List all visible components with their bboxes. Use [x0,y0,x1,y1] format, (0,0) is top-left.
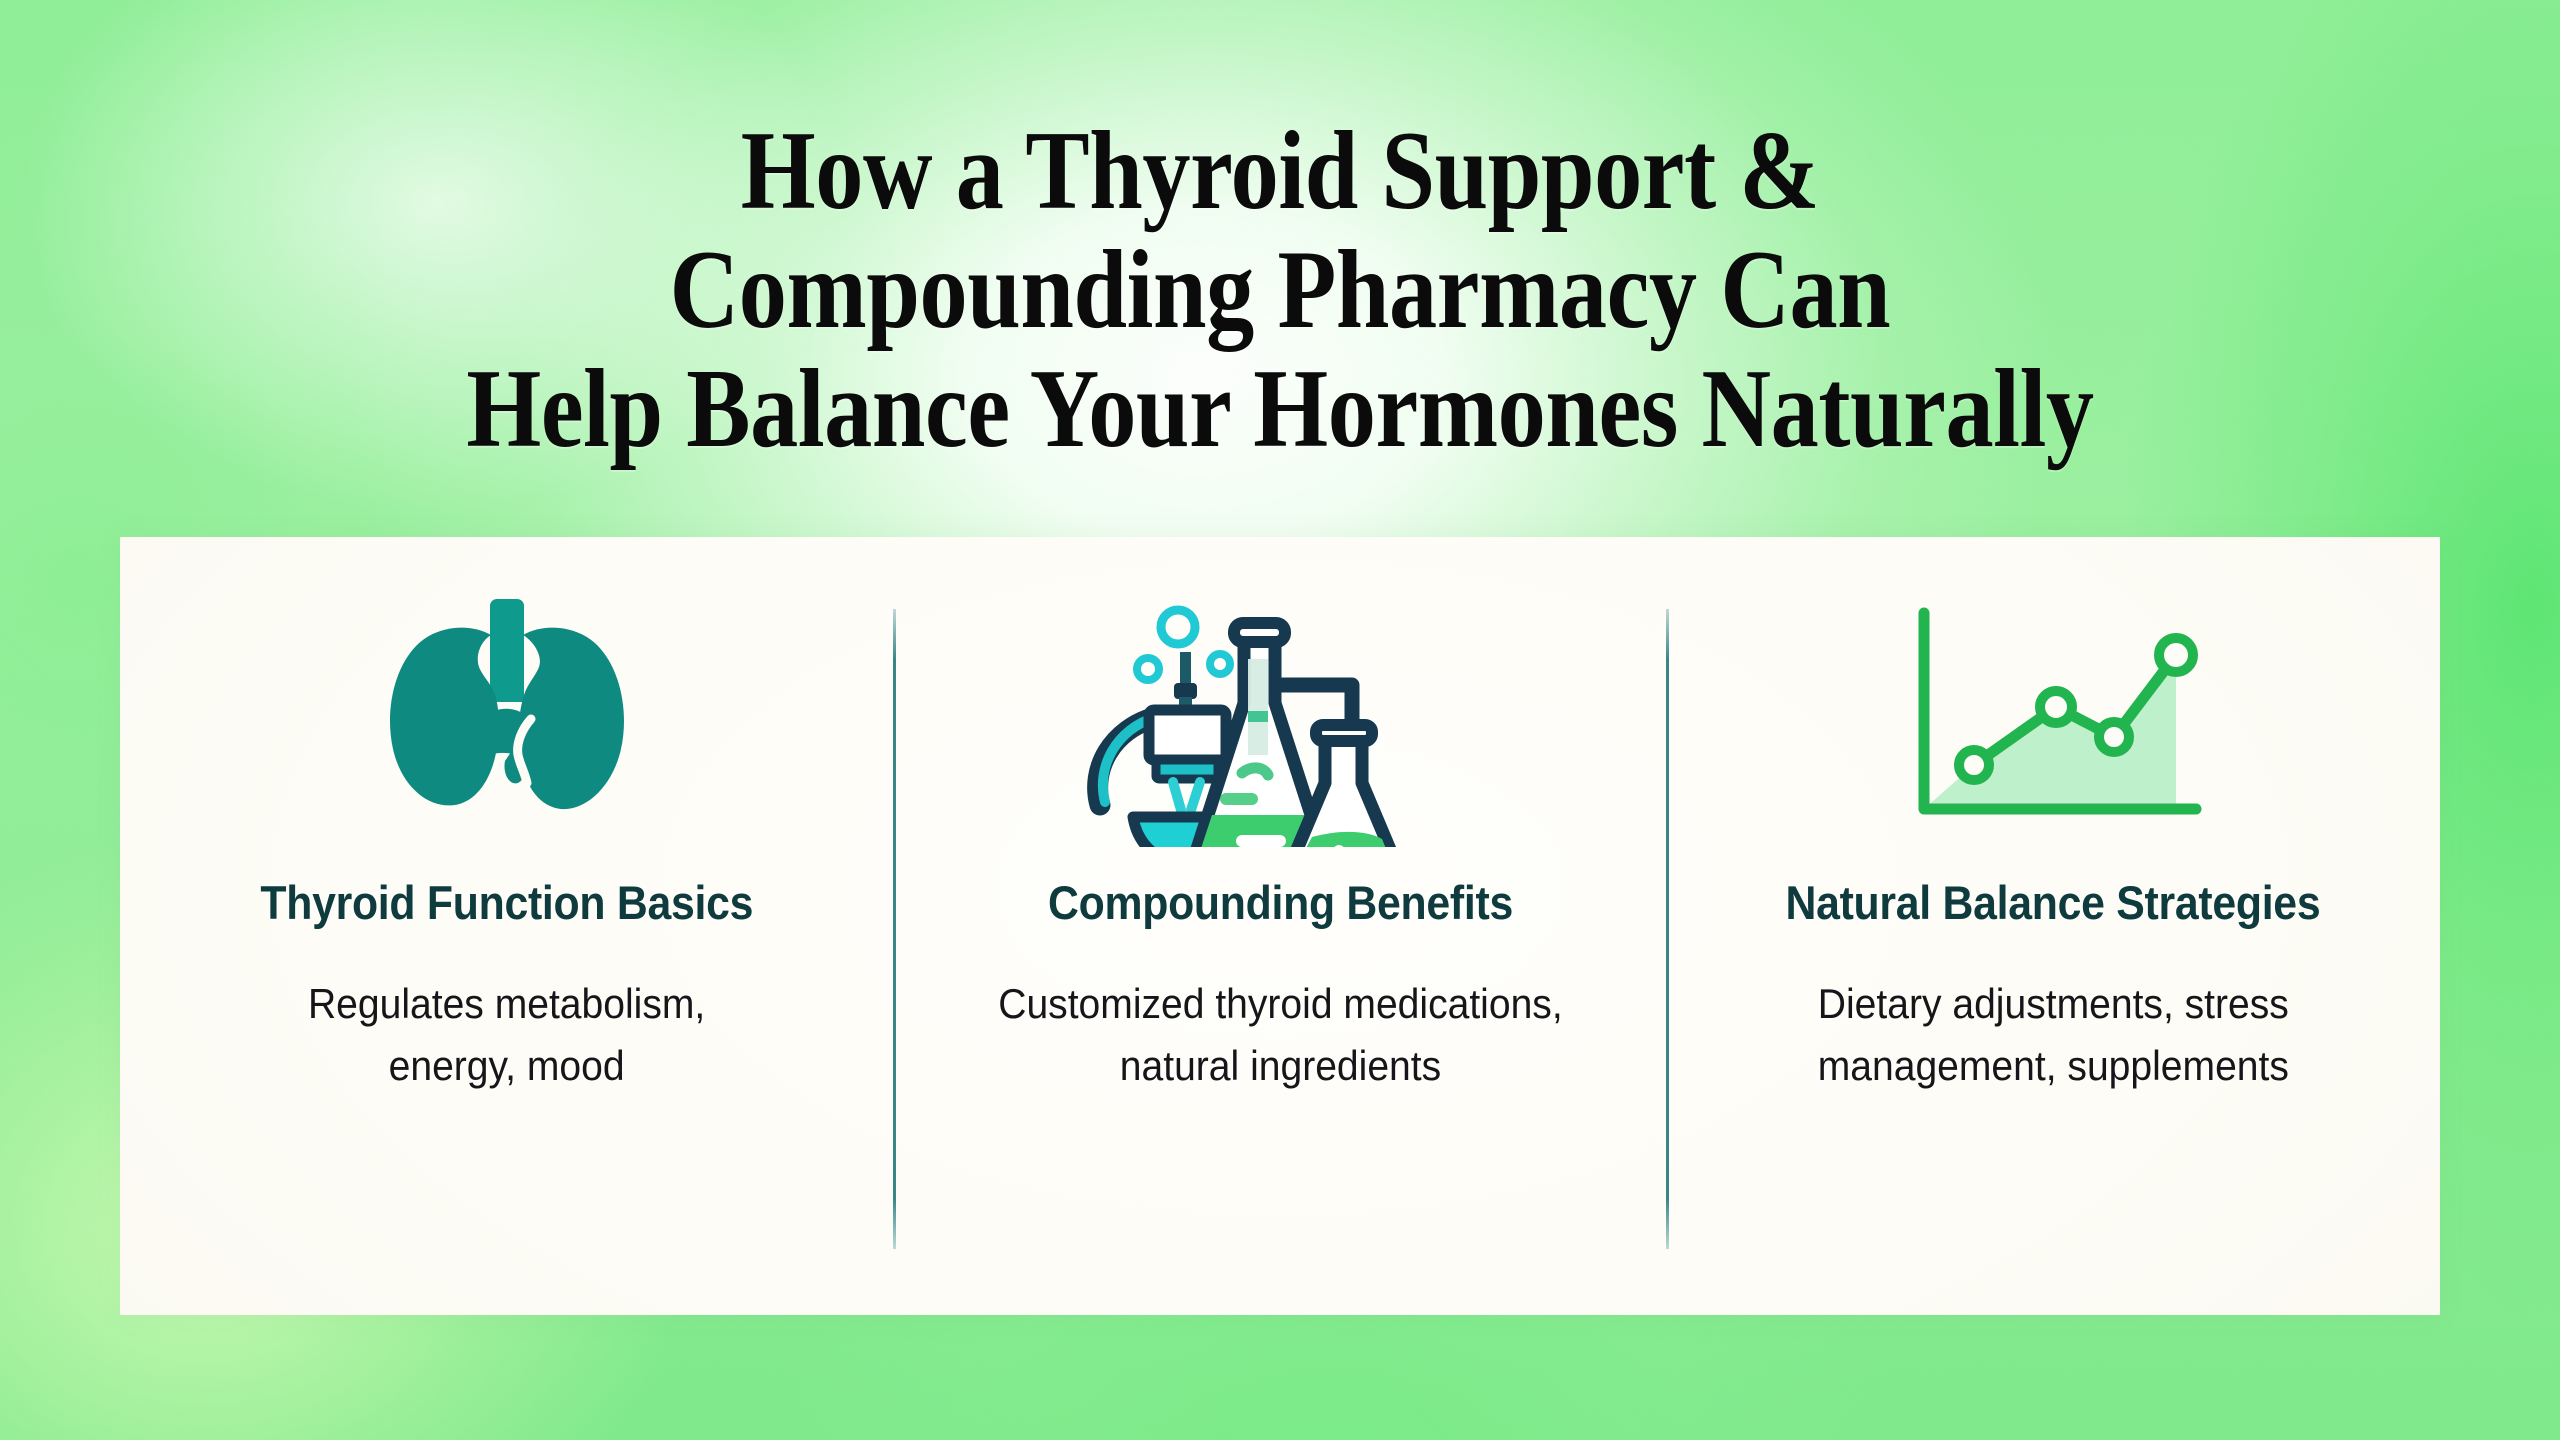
card-divider-1 [893,609,896,1249]
card-thyroid-function-basics: Thyroid Function Basics Regulates metabo… [120,537,893,1315]
chart-point [2159,638,2193,672]
card-body: Customized thyroid medications, natural … [998,973,1562,1097]
chart-icon-wrapper [1878,597,2228,847]
card-heading: Natural Balance Strategies [1786,877,2321,929]
chart-point [2099,722,2129,752]
thyroid-icon-wrapper [379,597,635,847]
title-line-2: Compounding Pharmacy Can [179,231,2381,350]
card-body-line: Customized thyroid medications, [998,973,1562,1035]
title-line-3: Help Balance Your Hormones Naturally [179,350,2381,469]
thyroid-gland-icon [379,597,635,847]
chart-point [1959,750,1989,780]
card-compounding-benefits: Compounding Benefits Customized thyroid … [893,537,1666,1315]
microscope-and-flasks-icon [1060,597,1500,847]
infographic-canvas: How a Thyroid Support & Compounding Phar… [0,0,2560,1440]
card-body: Regulates metabolism, energy, mood [308,973,705,1097]
card-divider-2 [1666,609,1669,1249]
card-body-line: Dietary adjustments, stress [1818,973,2289,1035]
card-heading: Thyroid Function Basics [260,877,753,929]
lab-icon-wrapper [1060,597,1500,847]
card-body-line: energy, mood [308,1035,705,1097]
chart-area-fill [1924,655,2176,809]
chart-point [2040,691,2072,723]
card-heading: Compounding Benefits [1047,877,1512,929]
card-body-line: natural ingredients [998,1035,1562,1097]
title-line-1: How a Thyroid Support & [179,112,2381,231]
card-row: Thyroid Function Basics Regulates metabo… [120,537,2440,1315]
card-body-line: Regulates metabolism, [308,973,705,1035]
growth-line-chart-icon [1878,597,2228,847]
content-panel: Thyroid Function Basics Regulates metabo… [120,537,2440,1315]
card-body: Dietary adjustments, stress management, … [1818,973,2289,1097]
page-title: How a Thyroid Support & Compounding Phar… [0,112,2560,469]
card-natural-balance-strategies: Natural Balance Strategies Dietary adjus… [1667,537,2440,1315]
card-body-line: management, supplements [1818,1035,2289,1097]
